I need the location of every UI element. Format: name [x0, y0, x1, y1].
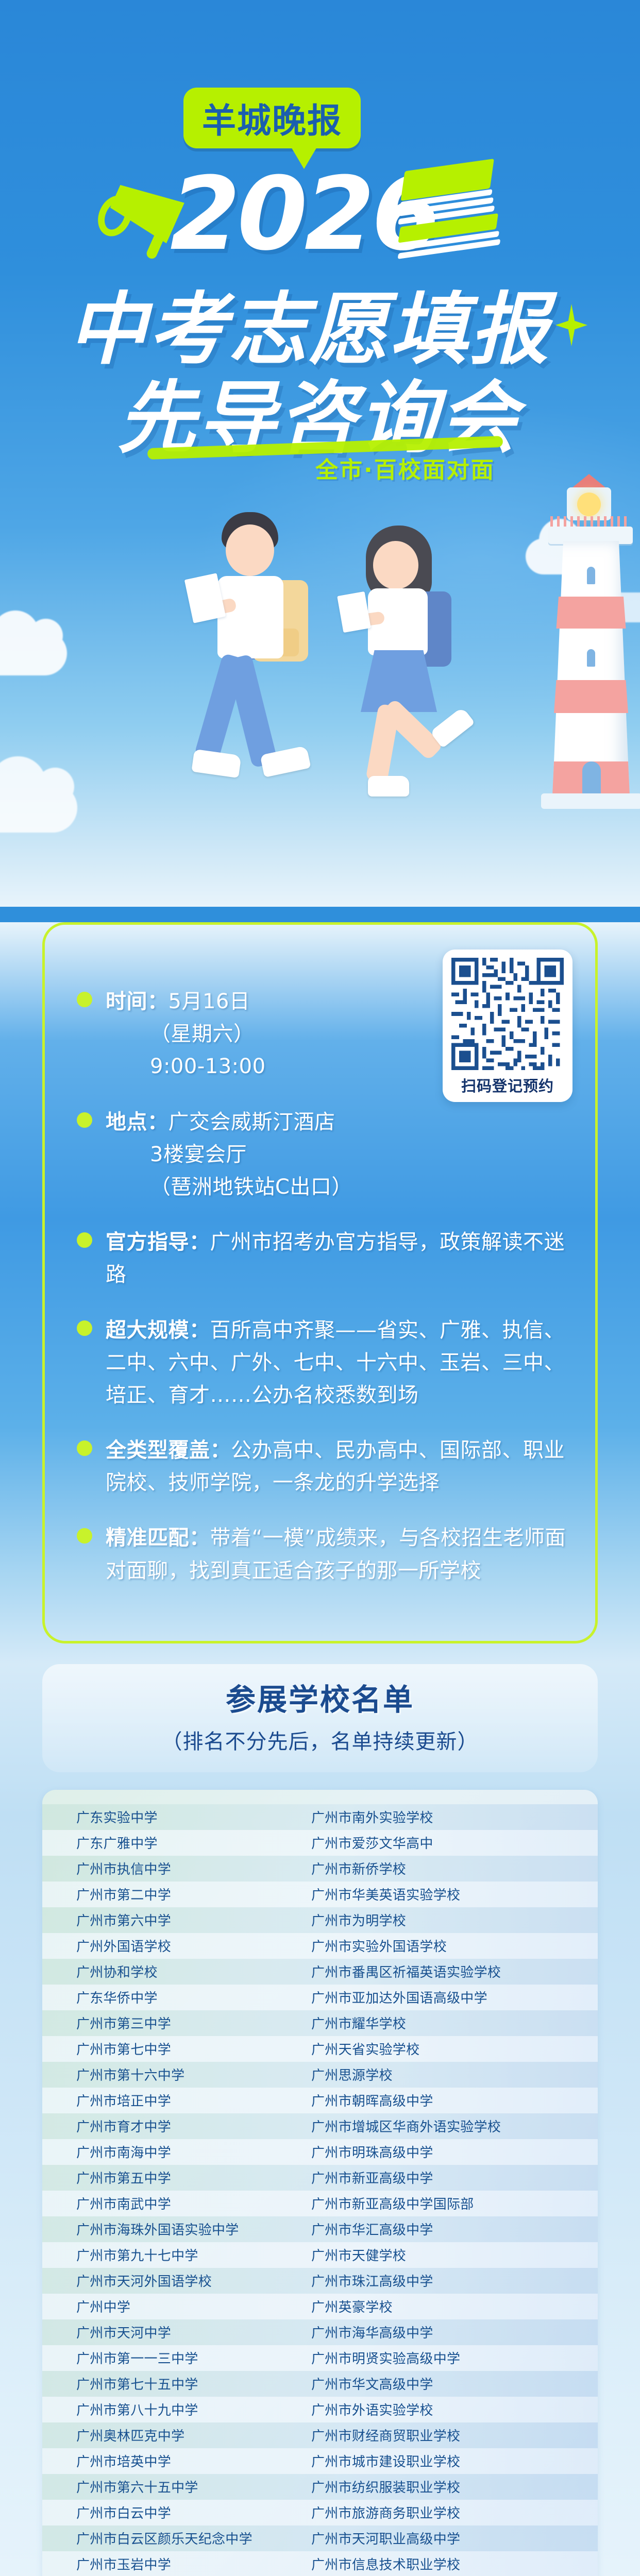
detail-label-scale: 超大规模：	[106, 1318, 210, 1342]
school-name-left: 广州外国语学校	[42, 1936, 306, 1955]
school-name-left: 广州市第八十九中学	[42, 2400, 306, 2419]
table-row: 广州市第一一三中学广州市明贤实验高级中学	[42, 2345, 598, 2371]
school-name-right: 广州市天河职业高级中学	[306, 2529, 598, 2548]
school-name-right: 广州市华文高级中学	[306, 2374, 598, 2393]
school-name-right: 广州市天健学校	[306, 2245, 598, 2264]
school-name-left: 广州市第七中学	[42, 2039, 306, 2058]
school-name-right: 广州市实验外国语学校	[306, 1936, 598, 1955]
school-name-right: 广州市信息技术职业学校	[306, 2554, 598, 2573]
table-row: 广州市玉岩中学广州市信息技术职业学校	[42, 2551, 598, 2576]
detail-item-coverage: 全类型覆盖：公办高中、民办高中、国际部、职业院校、技师学院，一条龙的升学选择	[74, 1434, 566, 1499]
school-name-right: 广州市耀华学校	[306, 2013, 598, 2032]
school-name-right: 广州市番禺区祈福英语实验学校	[306, 1962, 598, 1981]
lighthouse-illustration	[526, 479, 640, 907]
school-name-right: 广州市新侨学校	[306, 1859, 598, 1878]
table-row: 广州市第八十九中学广州市外语实验学校	[42, 2397, 598, 2422]
school-name-right: 广州市南外实验学校	[306, 1807, 598, 1826]
detail-label-matching: 精准匹配：	[106, 1526, 210, 1550]
school-name-left: 广州市第三中学	[42, 2013, 306, 2032]
table-row: 广州市育才中学广州市增城区华商外语实验学校	[42, 2113, 598, 2139]
detail-item-matching: 精准匹配：带着“一模”成绩来，与各校招生老师面对面聊，找到真正适合孩子的那一所学…	[74, 1522, 566, 1587]
table-row: 广东广雅中学广州市爱莎文华高中	[42, 1830, 598, 1856]
school-name-right: 广州市海华高级中学	[306, 2323, 598, 2342]
students-illustration	[0, 479, 640, 907]
detail-sub-time-hours: 9:00-13:00	[106, 1050, 425, 1083]
bullet-dot-icon	[77, 1320, 92, 1336]
detail-label-time: 时间：	[106, 990, 169, 1013]
bullet-dot-icon	[77, 1232, 92, 1248]
brand-logo-bubble: 羊城晚报	[183, 88, 361, 148]
school-name-right: 广州市明贤实验高级中学	[306, 2348, 598, 2367]
school-name-right: 广州市珠江高级中学	[306, 2271, 598, 2290]
detail-sub-venue-metro: （琶洲地铁站C出口）	[106, 1171, 425, 1204]
school-name-right: 广州市为明学校	[306, 1910, 598, 1929]
school-name-right: 广州市新亚高级中学国际部	[306, 2194, 598, 2213]
school-name-right: 广州市城市建设职业学校	[306, 2451, 598, 2470]
school-name-right: 广州市纺织服装职业学校	[306, 2477, 598, 2496]
school-list-table: 广东实验中学广州市南外实验学校广东广雅中学广州市爱莎文华高中广州市执信中学广州市…	[42, 1790, 598, 2576]
school-list-section: 参展学校名单 （排名不分先后，名单持续更新） 广东实验中学广州市南外实验学校广东…	[0, 1664, 640, 2576]
school-name-right: 广州市财经商贸职业学校	[306, 2426, 598, 2445]
school-list-title: 参展学校名单	[42, 1675, 598, 1719]
table-row: 广州市第十六中学广州思源学校	[42, 2062, 598, 2088]
school-name-left: 广州市第五中学	[42, 2168, 306, 2187]
bullet-dot-icon	[77, 992, 92, 1007]
school-name-left: 广东华侨中学	[42, 1988, 306, 2007]
detail-item-time: 时间：5月16日 （星期六） 9:00-13:00	[74, 986, 566, 1083]
school-name-right: 广州思源学校	[306, 2065, 598, 2084]
table-row: 广州市天河外国语学校广州市珠江高级中学	[42, 2268, 598, 2294]
school-name-left: 广东实验中学	[42, 1807, 306, 1826]
school-name-right: 广州英豪学校	[306, 2297, 598, 2316]
school-name-left: 广州市培英中学	[42, 2451, 306, 2470]
school-name-left: 广州市天河外国语学校	[42, 2271, 306, 2290]
table-row: 广州市第二中学广州市华美英语实验学校	[42, 1882, 598, 1907]
school-name-left: 广州市第十六中学	[42, 2065, 306, 2084]
school-list-header: 参展学校名单 （排名不分先后，名单持续更新）	[42, 1664, 598, 1772]
books-stack-icon	[391, 158, 516, 270]
table-row: 广州市南武中学广州市新亚高级中学国际部	[42, 2191, 598, 2216]
school-name-left: 广州市南武中学	[42, 2194, 306, 2213]
school-name-right: 广州市华美英语实验学校	[306, 1885, 598, 1904]
table-row: 广州市第九十七中学广州市天健学校	[42, 2242, 598, 2268]
student-girl-illustration	[336, 526, 465, 845]
bullet-dot-icon	[77, 1440, 92, 1456]
table-row: 广州市海珠外国语实验中学广州市华汇高级中学	[42, 2216, 598, 2242]
school-name-left: 广州市执信中学	[42, 1859, 306, 1878]
table-row: 广东华侨中学广州市亚加达外国语高级中学	[42, 1985, 598, 2010]
table-row: 广州市第七中学广州天省实验学校	[42, 2036, 598, 2062]
table-row: 广州市第六中学广州市为明学校	[42, 1907, 598, 1933]
school-name-left: 广州市第七十五中学	[42, 2374, 306, 2393]
bullet-dot-icon	[77, 1112, 92, 1128]
bullet-dot-icon	[77, 1528, 92, 1544]
school-name-left: 广州中学	[42, 2297, 306, 2316]
school-name-left: 广州市白云区颜乐天纪念中学	[42, 2529, 306, 2548]
table-row: 广州市白云中学广州市旅游商务职业学校	[42, 2500, 598, 2526]
table-row: 广州市培正中学广州市朝晖高级中学	[42, 2088, 598, 2113]
student-boy-illustration	[181, 510, 315, 840]
school-name-right: 广州市外语实验学校	[306, 2400, 598, 2419]
school-name-right: 广州市爱莎文华高中	[306, 1833, 598, 1852]
school-name-left: 广州奥林匹克中学	[42, 2426, 306, 2445]
table-row: 广州市培英中学广州市城市建设职业学校	[42, 2448, 598, 2474]
table-row: 广州外国语学校广州市实验外国语学校	[42, 1933, 598, 1959]
detail-sub-venue-floor: 3楼宴会厅	[106, 1139, 425, 1171]
school-name-left: 广州协和学校	[42, 1962, 306, 1981]
table-row: 广东实验中学广州市南外实验学校	[42, 1804, 598, 1830]
school-name-left: 广州市第六十五中学	[42, 2477, 306, 2496]
table-row: 广州市第六十五中学广州市纺织服装职业学校	[42, 2474, 598, 2500]
brand-logo-label: 羊城晚报	[202, 93, 342, 143]
table-row: 广州奥林匹克中学广州市财经商贸职业学校	[42, 2422, 598, 2448]
school-name-right: 广州市新亚高级中学	[306, 2168, 598, 2187]
detail-value-venue: 广交会威斯汀酒店	[169, 1110, 335, 1134]
hero-banner: 羊城晚报 2026 中考志愿填报 先导咨询会 全市·百校面对面	[0, 0, 640, 907]
table-row: 广州中学广州英豪学校	[42, 2294, 598, 2319]
detail-label-coverage: 全类型覆盖：	[106, 1438, 231, 1462]
school-name-right: 广州市旅游商务职业学校	[306, 2503, 598, 2522]
school-name-left: 广州市天河中学	[42, 2323, 306, 2342]
detail-item-venue: 地点：广交会威斯汀酒店 3楼宴会厅 （琶洲地铁站C出口）	[74, 1106, 566, 1204]
school-name-left: 广州市白云中学	[42, 2503, 306, 2522]
table-row: 广州市执信中学广州市新侨学校	[42, 1856, 598, 1882]
school-name-left: 广州市育才中学	[42, 2116, 306, 2136]
school-name-left: 广州市第二中学	[42, 1885, 306, 1904]
school-name-right: 广州市明珠高级中学	[306, 2142, 598, 2161]
school-name-right: 广州天省实验学校	[306, 2039, 598, 2058]
school-name-right: 广州市朝晖高级中学	[306, 2091, 598, 2110]
table-row: 广州市南海中学广州市明珠高级中学	[42, 2139, 598, 2165]
detail-item-official-guidance: 官方指导：广州市招考办官方指导，政策解读不迷路	[74, 1226, 566, 1291]
school-name-left: 广州市南海中学	[42, 2142, 306, 2161]
school-name-left: 广州市海珠外国语实验中学	[42, 2219, 306, 2239]
school-name-right: 广州市增城区华商外语实验学校	[306, 2116, 598, 2136]
detail-sub-time-weekday: （星期六）	[106, 1018, 425, 1050]
table-row: 广州协和学校广州市番禺区祈福英语实验学校	[42, 1959, 598, 1985]
school-name-left: 广东广雅中学	[42, 1833, 306, 1852]
table-row: 广州市第五中学广州市新亚高级中学	[42, 2165, 598, 2191]
event-info-section: 扫码登记预约 时间：5月16日 （星期六） 9:00-13:00 地点：广交会威…	[0, 922, 640, 1664]
school-name-right: 广州市亚加达外国语高级中学	[306, 1988, 598, 2007]
detail-label-venue: 地点：	[106, 1110, 169, 1134]
detail-item-scale: 超大规模：百所高中齐聚——省实、广雅、执信、二中、六中、广外、七中、十六中、玉岩…	[74, 1314, 566, 1412]
school-list-subtitle: （排名不分先后，名单持续更新）	[42, 1725, 598, 1755]
school-name-left: 广州市培正中学	[42, 2091, 306, 2110]
table-row: 广州市第七十五中学广州市华文高级中学	[42, 2371, 598, 2397]
school-name-left: 广州市玉岩中学	[42, 2554, 306, 2573]
detail-label-official-guidance: 官方指导：	[106, 1230, 210, 1254]
table-row: 广州市天河中学广州市海华高级中学	[42, 2319, 598, 2345]
event-details-list: 时间：5月16日 （星期六） 9:00-13:00 地点：广交会威斯汀酒店 3楼…	[74, 986, 566, 1587]
detail-value-time: 5月16日	[169, 990, 250, 1013]
table-row: 广州市第三中学广州市耀华学校	[42, 2010, 598, 2036]
school-name-left: 广州市第九十七中学	[42, 2245, 306, 2264]
table-row: 广州市白云区颜乐天纪念中学广州市天河职业高级中学	[42, 2526, 598, 2551]
event-info-card: 扫码登记预约 时间：5月16日 （星期六） 9:00-13:00 地点：广交会威…	[42, 922, 598, 1643]
school-name-left: 广州市第一一三中学	[42, 2348, 306, 2367]
school-name-right: 广州市华汇高级中学	[306, 2219, 598, 2239]
school-name-left: 广州市第六中学	[42, 1910, 306, 1929]
sparkle-icon	[555, 304, 587, 346]
